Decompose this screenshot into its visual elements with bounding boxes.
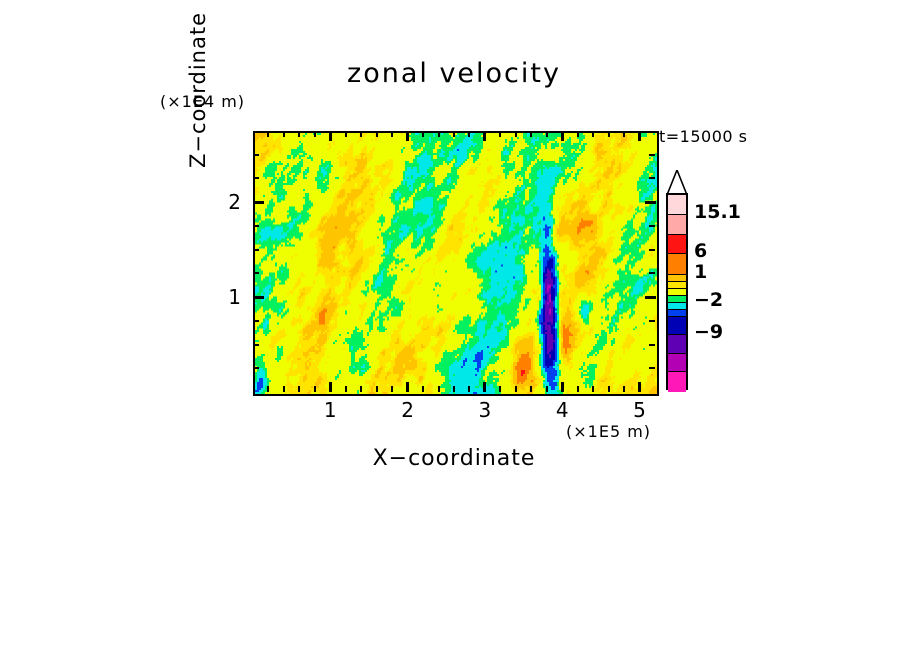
x-tick-minor	[267, 386, 269, 392]
contour-plot-area	[253, 131, 659, 396]
x-tick-minor	[453, 131, 455, 137]
y-tick-minor	[649, 344, 655, 346]
x-tick-minor	[453, 386, 455, 392]
x-tick-minor	[530, 131, 532, 137]
time-annotation: t=15000 s	[659, 127, 748, 146]
y-tick-minor	[649, 249, 655, 251]
y-tick-minor	[649, 320, 655, 322]
x-tick-major	[638, 131, 641, 141]
x-tick-label: 3	[479, 398, 492, 422]
x-tick-minor	[298, 131, 300, 137]
y-tick-minor	[253, 249, 259, 251]
x-axis-unit-label: (×1E5 m)	[566, 422, 651, 441]
colorbar-segment	[668, 371, 686, 392]
x-tick-minor	[438, 386, 440, 392]
y-tick-minor	[649, 177, 655, 179]
colorbar-tick-label: −9	[694, 321, 723, 343]
x-tick-minor	[530, 386, 532, 392]
y-tick-minor	[649, 272, 655, 274]
x-tick-minor	[546, 386, 548, 392]
colorbar-segment	[668, 274, 686, 281]
x-tick-major	[329, 131, 332, 141]
colorbar-segment	[668, 353, 686, 371]
y-tick-minor	[253, 225, 259, 227]
x-tick-minor	[422, 131, 424, 137]
y-tick-minor	[649, 367, 655, 369]
x-tick-minor	[515, 386, 517, 392]
x-tick-minor	[283, 386, 285, 392]
colorbar-segment	[668, 214, 686, 233]
x-tick-minor	[314, 131, 316, 137]
figure-canvas: zonal velocity (×1E4 m) Z−coordinate X−c…	[0, 0, 904, 654]
colorbar-segment	[668, 253, 686, 274]
x-tick-minor	[283, 131, 285, 137]
x-tick-minor	[376, 386, 378, 392]
y-tick-label: 1	[213, 285, 241, 309]
x-tick-minor	[438, 131, 440, 137]
y-axis-title: Z−coordinate	[186, 0, 208, 190]
colorbar-segment	[668, 302, 686, 309]
x-tick-major	[406, 131, 409, 141]
x-tick-minor	[515, 131, 517, 137]
colorbar-segment	[668, 295, 686, 302]
colorbar-segment	[668, 195, 686, 214]
colorbar-tick-label: 1	[694, 261, 707, 283]
colorbar	[666, 193, 688, 390]
colorbar-segment	[668, 288, 686, 295]
x-tick-minor	[623, 386, 625, 392]
colorbar-tick-label: 15.1	[694, 201, 741, 223]
colorbar-segment	[668, 316, 686, 334]
x-tick-minor	[376, 131, 378, 137]
colorbar-segment	[668, 334, 686, 352]
x-axis-title: X−coordinate	[253, 446, 655, 471]
x-tick-minor	[298, 386, 300, 392]
contour-field	[255, 133, 657, 394]
y-tick-minor	[253, 367, 259, 369]
x-tick-minor	[623, 131, 625, 137]
x-tick-minor	[577, 131, 579, 137]
y-tick-minor	[253, 272, 259, 274]
x-tick-minor	[422, 386, 424, 392]
y-tick-major	[253, 296, 264, 299]
y-tick-minor	[253, 154, 259, 156]
x-tick-minor	[608, 131, 610, 137]
x-tick-minor	[592, 131, 594, 137]
x-tick-minor	[608, 386, 610, 392]
x-tick-minor	[345, 131, 347, 137]
x-tick-minor	[345, 386, 347, 392]
x-tick-major	[329, 382, 332, 392]
x-tick-minor	[546, 131, 548, 137]
x-tick-major	[483, 382, 486, 392]
x-tick-minor	[391, 131, 393, 137]
x-tick-minor	[577, 386, 579, 392]
x-tick-minor	[314, 386, 316, 392]
x-tick-label: 2	[401, 398, 414, 422]
x-tick-label: 4	[556, 398, 569, 422]
x-tick-minor	[499, 386, 501, 392]
colorbar-segment	[668, 234, 686, 253]
x-tick-minor	[360, 386, 362, 392]
x-tick-major	[561, 131, 564, 141]
x-tick-label: 5	[633, 398, 646, 422]
x-tick-minor	[468, 131, 470, 137]
x-tick-minor	[360, 131, 362, 137]
x-tick-minor	[267, 131, 269, 137]
y-tick-minor	[253, 320, 259, 322]
x-tick-major	[561, 382, 564, 392]
x-tick-major	[406, 382, 409, 392]
page-title: zonal velocity	[253, 58, 655, 89]
x-tick-major	[638, 382, 641, 392]
x-tick-minor	[391, 386, 393, 392]
y-tick-minor	[649, 225, 655, 227]
y-tick-minor	[253, 344, 259, 346]
x-tick-minor	[499, 131, 501, 137]
colorbar-segment	[668, 281, 686, 288]
colorbar-segment	[668, 309, 686, 316]
y-tick-label: 2	[213, 190, 241, 214]
y-tick-minor	[253, 177, 259, 179]
y-tick-major	[253, 201, 264, 204]
colorbar-tick-label: 6	[694, 240, 707, 262]
x-tick-label: 1	[324, 398, 337, 422]
y-tick-major	[645, 201, 656, 204]
y-tick-major	[645, 296, 656, 299]
y-tick-minor	[649, 154, 655, 156]
x-tick-minor	[468, 386, 470, 392]
colorbar-tick-label: −2	[694, 289, 723, 311]
x-tick-major	[483, 131, 486, 141]
x-tick-minor	[592, 386, 594, 392]
